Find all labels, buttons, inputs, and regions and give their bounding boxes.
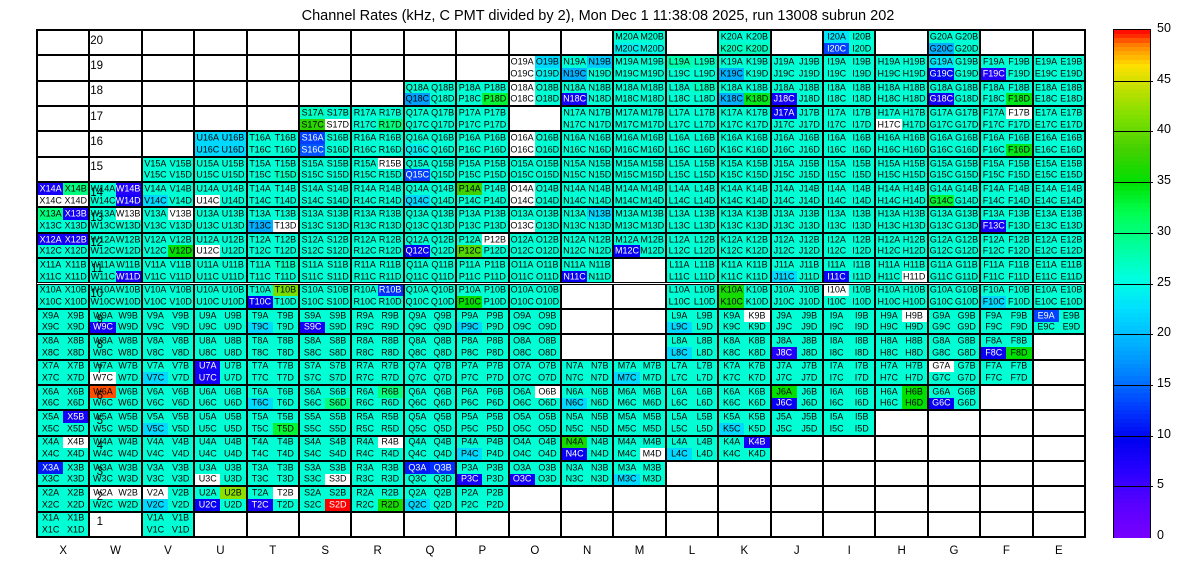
channel-Q7A[interactable]: Q7A: [405, 361, 430, 373]
channel-H8A[interactable]: H8A: [876, 335, 901, 347]
module-O17[interactable]: [509, 106, 561, 131]
channel-H12A[interactable]: H12A: [876, 234, 901, 246]
channel-G6A[interactable]: G6A: [929, 386, 954, 398]
channel-I5B[interactable]: I5B: [849, 411, 874, 423]
channel-Q12C[interactable]: Q12C: [405, 245, 430, 257]
channel-L15C[interactable]: L15C: [667, 169, 692, 181]
channel-K8B[interactable]: K8B: [744, 335, 769, 347]
module-G19[interactable]: G19AG19BG19CG19D: [928, 55, 980, 80]
channel-G6B[interactable]: G6B: [954, 386, 979, 398]
channel-F11A[interactable]: F11A: [981, 259, 1006, 271]
channel-T4C[interactable]: T4C: [248, 448, 273, 460]
module-G11[interactable]: G11AG11BG11CG11D: [928, 258, 980, 283]
channel-O8B[interactable]: O8B: [535, 335, 560, 347]
channel-H16C[interactable]: H16C: [876, 144, 901, 156]
channel-Q9C[interactable]: Q9C: [405, 322, 430, 334]
channel-O16A[interactable]: O16A: [510, 132, 535, 144]
module-P9[interactable]: P9AP9BP9CP9D: [456, 309, 508, 334]
channel-V5C[interactable]: V5C: [143, 423, 168, 435]
channel-N18A[interactable]: N18A: [562, 82, 587, 94]
channel-U11C[interactable]: U11C: [195, 271, 220, 283]
channel-I14A[interactable]: I14A: [824, 183, 849, 195]
channel-U11B[interactable]: U11B: [220, 259, 245, 271]
channel-K4A[interactable]: K4A: [719, 437, 744, 449]
channel-K9D[interactable]: K9D: [744, 322, 769, 334]
channel-I9D[interactable]: I9D: [849, 322, 874, 334]
channel-U14A[interactable]: U14A: [195, 183, 220, 195]
channel-J15D[interactable]: J15D: [797, 169, 822, 181]
module-H8[interactable]: H8AH8BH8CH8D: [875, 334, 927, 359]
channel-U7C[interactable]: U7C: [195, 372, 220, 384]
channel-K17A[interactable]: K17A: [719, 107, 744, 119]
channel-Q18D[interactable]: Q18D: [430, 93, 455, 105]
channel-P17A[interactable]: P17A: [457, 107, 482, 119]
module-I12[interactable]: I12AI12BI12CI12D: [823, 233, 875, 258]
channel-I5D[interactable]: I5D: [849, 423, 874, 435]
channel-P12C[interactable]: P12C: [457, 245, 482, 257]
channel-S12A[interactable]: S12A: [300, 234, 325, 246]
channel-L13A[interactable]: L13A: [667, 208, 692, 220]
channel-R6C[interactable]: R6C: [352, 398, 377, 410]
channel-F13D[interactable]: F13D: [1006, 220, 1031, 232]
channel-O10A[interactable]: O10A: [510, 285, 535, 297]
channel-S5C[interactable]: S5C: [300, 423, 325, 435]
channel-J11D[interactable]: J11D: [797, 271, 822, 283]
module-J1[interactable]: [771, 512, 823, 537]
channel-R14B[interactable]: R14B: [378, 183, 403, 195]
channel-F14B[interactable]: F14B: [1006, 183, 1031, 195]
channel-R3A[interactable]: R3A: [352, 462, 377, 474]
module-V12[interactable]: V12AV12BV12CV12D: [142, 233, 194, 258]
channel-M15A[interactable]: M15A: [614, 158, 639, 170]
module-N15[interactable]: N15AN15BN15CN15D: [561, 157, 613, 182]
channel-N6A[interactable]: N6A: [562, 386, 587, 398]
channel-M7B[interactable]: M7B: [640, 361, 665, 373]
channel-T13C[interactable]: T13C: [248, 220, 273, 232]
module-V7[interactable]: V7AV7BV7CV7D: [142, 360, 194, 385]
channel-J6B[interactable]: J6B: [797, 386, 822, 398]
channel-P18C[interactable]: P18C: [457, 93, 482, 105]
channel-L8B[interactable]: L8B: [692, 335, 717, 347]
channel-T2C[interactable]: T2C: [248, 499, 273, 511]
channel-G11A[interactable]: G11A: [929, 259, 954, 271]
channel-P3B[interactable]: P3B: [482, 462, 507, 474]
module-E12[interactable]: E12AE12BE12CE12D: [1033, 233, 1085, 258]
module-E14[interactable]: E14AE14BE14CE14D: [1033, 182, 1085, 207]
channel-O19B[interactable]: O19B: [535, 56, 560, 68]
channel-G10C[interactable]: G10C: [929, 296, 954, 308]
channel-V6C[interactable]: V6C: [143, 398, 168, 410]
channel-P7B[interactable]: P7B: [482, 361, 507, 373]
channel-K8C[interactable]: K8C: [719, 347, 744, 359]
channel-T4D[interactable]: T4D: [273, 448, 298, 460]
channel-R13B[interactable]: R13B: [378, 208, 403, 220]
channel-N16C[interactable]: N16C: [562, 144, 587, 156]
channel-T5B[interactable]: T5B: [273, 411, 298, 423]
channel-Q5A[interactable]: Q5A: [405, 411, 430, 423]
module-I17[interactable]: I17AI17BI17CI17D: [823, 106, 875, 131]
channel-P6C[interactable]: P6C: [457, 398, 482, 410]
channel-J7A[interactable]: J7A: [772, 361, 797, 373]
channel-P11A[interactable]: P11A: [457, 259, 482, 271]
channel-O16B[interactable]: O16B: [535, 132, 560, 144]
module-I3[interactable]: [823, 461, 875, 486]
module-N10[interactable]: [561, 284, 613, 309]
channel-M16C[interactable]: M16C: [614, 144, 639, 156]
channel-I11A[interactable]: I11A: [824, 259, 849, 271]
channel-X14A[interactable]: X14A: [38, 183, 63, 195]
module-Q14[interactable]: Q14AQ14BQ14CQ14D: [404, 182, 456, 207]
channel-L5A[interactable]: L5A: [667, 411, 692, 423]
channel-F15D[interactable]: F15D: [1006, 169, 1031, 181]
module-Q6[interactable]: Q6AQ6BQ6CQ6D: [404, 385, 456, 410]
channel-F12C[interactable]: F12C: [981, 245, 1006, 257]
channel-U16D[interactable]: U16D: [220, 144, 245, 156]
channel-J16D[interactable]: J16D: [797, 144, 822, 156]
channel-K5D[interactable]: K5D: [744, 423, 769, 435]
module-L20[interactable]: [666, 30, 718, 55]
channel-P9A[interactable]: P9A: [457, 310, 482, 322]
channel-P16B[interactable]: P16B: [482, 132, 507, 144]
channel-O13D[interactable]: O13D: [535, 220, 560, 232]
channel-I20A[interactable]: I20A: [824, 31, 849, 43]
channel-H8C[interactable]: H8C: [876, 347, 901, 359]
module-K18[interactable]: K18AK18BK18CK18D: [718, 81, 770, 106]
module-L3[interactable]: [666, 461, 718, 486]
channel-V8D[interactable]: V8D: [168, 347, 193, 359]
channel-K19B[interactable]: K19B: [744, 56, 769, 68]
module-S16[interactable]: S16AS16BS16CS16D: [299, 131, 351, 156]
channel-F17A[interactable]: F17A: [981, 107, 1006, 119]
channel-Q10C[interactable]: Q10C: [405, 296, 430, 308]
channel-E9C[interactable]: E9C: [1034, 322, 1059, 334]
channel-Q4C[interactable]: Q4C: [405, 448, 430, 460]
channel-I16D[interactable]: I16D: [849, 144, 874, 156]
channel-U14B[interactable]: U14B: [220, 183, 245, 195]
channel-L11D[interactable]: L11D: [692, 271, 717, 283]
channel-Q17C[interactable]: Q17C: [405, 119, 430, 131]
module-U7[interactable]: U7AU7BU7CU7D: [194, 360, 246, 385]
channel-I15B[interactable]: I15B: [849, 158, 874, 170]
channel-U16A[interactable]: U16A: [195, 132, 220, 144]
module-G6[interactable]: G6AG6BG6CG6D: [928, 385, 980, 410]
channel-Q17A[interactable]: Q17A: [405, 107, 430, 119]
channel-S14A[interactable]: S14A: [300, 183, 325, 195]
channel-H12D[interactable]: H12D: [902, 245, 927, 257]
channel-H14A[interactable]: H14A: [876, 183, 901, 195]
channel-L7A[interactable]: L7A: [667, 361, 692, 373]
module-R13[interactable]: R13AR13BR13CR13D: [351, 207, 403, 232]
channel-H8D[interactable]: H8D: [902, 347, 927, 359]
channel-K9A[interactable]: K9A: [719, 310, 744, 322]
channel-L8A[interactable]: L8A: [667, 335, 692, 347]
module-G16[interactable]: G16AG16BG16CG16D: [928, 131, 980, 156]
channel-Q14D[interactable]: Q14D: [430, 195, 455, 207]
channel-H16B[interactable]: H16B: [902, 132, 927, 144]
channel-I5C[interactable]: I5C: [824, 423, 849, 435]
channel-P13A[interactable]: P13A: [457, 208, 482, 220]
channel-G7A[interactable]: G7A: [929, 361, 954, 373]
channel-K11D[interactable]: K11D: [744, 271, 769, 283]
module-J7[interactable]: J7AJ7BJ7CJ7D: [771, 360, 823, 385]
channel-P13B[interactable]: P13B: [482, 208, 507, 220]
channel-G16B[interactable]: G16B: [954, 132, 979, 144]
channel-W3D[interactable]: W3D: [116, 474, 141, 486]
channel-I8D[interactable]: I8D: [849, 347, 874, 359]
channel-R3C[interactable]: R3C: [352, 474, 377, 486]
channel-O11B[interactable]: O11B: [535, 259, 560, 271]
channel-W6B[interactable]: W6B: [116, 386, 141, 398]
module-F20[interactable]: [980, 30, 1032, 55]
channel-V8A[interactable]: V8A: [143, 335, 168, 347]
channel-R17C[interactable]: R17C: [352, 119, 377, 131]
module-E3[interactable]: [1033, 461, 1085, 486]
module-I5[interactable]: I5AI5BI5CI5D: [823, 410, 875, 435]
module-M9[interactable]: [613, 309, 665, 334]
channel-L12A[interactable]: L12A: [667, 234, 692, 246]
channel-R17B[interactable]: R17B: [378, 107, 403, 119]
module-F10[interactable]: F10AF10BF10CF10D: [980, 284, 1032, 309]
channel-V7D[interactable]: V7D: [168, 372, 193, 384]
channel-U14D[interactable]: U14D: [220, 195, 245, 207]
channel-P2A[interactable]: P2A: [457, 487, 482, 499]
module-R11[interactable]: R11AR11BR11CR11D: [351, 258, 403, 283]
channel-Q2B[interactable]: Q2B: [430, 487, 455, 499]
channel-S4D[interactable]: S4D: [325, 448, 350, 460]
channel-Q3D[interactable]: Q3D: [430, 474, 455, 486]
channel-G14B[interactable]: G14B: [954, 183, 979, 195]
channel-E13C[interactable]: E13C: [1034, 220, 1059, 232]
module-N19[interactable]: N19AN19BN19CN19D: [561, 55, 613, 80]
channel-I17C[interactable]: I17C: [824, 119, 849, 131]
channel-F18B[interactable]: F18B: [1006, 82, 1031, 94]
channel-J19C[interactable]: J19C: [772, 68, 797, 80]
channel-F19A[interactable]: F19A: [981, 56, 1006, 68]
channel-V10A[interactable]: V10A: [143, 285, 168, 297]
channel-R8A[interactable]: R8A: [352, 335, 377, 347]
channel-P14D[interactable]: P14D: [482, 195, 507, 207]
channel-R6B[interactable]: R6B: [378, 386, 403, 398]
channel-M13A[interactable]: M13A: [614, 208, 639, 220]
channel-F14D[interactable]: F14D: [1006, 195, 1031, 207]
channel-Q14A[interactable]: Q14A: [405, 183, 430, 195]
channel-F12B[interactable]: F12B: [1006, 234, 1031, 246]
channel-I6B[interactable]: I6B: [849, 386, 874, 398]
module-R7[interactable]: R7AR7BR7CR7D: [351, 360, 403, 385]
channel-I13C[interactable]: I13C: [824, 220, 849, 232]
channel-W12B[interactable]: W12B: [116, 234, 141, 246]
channel-F16C[interactable]: F16C: [981, 144, 1006, 156]
channel-F18D[interactable]: F18D: [1006, 93, 1031, 105]
module-R8[interactable]: R8AR8BR8CR8D: [351, 334, 403, 359]
channel-N13D[interactable]: N13D: [587, 220, 612, 232]
module-L12[interactable]: L12AL12BL12CL12D: [666, 233, 718, 258]
channel-Q15B[interactable]: Q15B: [430, 158, 455, 170]
channel-X12C[interactable]: X12C: [38, 245, 63, 257]
channel-O18A[interactable]: O18A: [510, 82, 535, 94]
channel-W13D[interactable]: W13D: [116, 220, 141, 232]
channel-X7A[interactable]: X7A: [38, 361, 63, 373]
channel-O14D[interactable]: O14D: [535, 195, 560, 207]
channel-I10C[interactable]: I10C: [824, 296, 849, 308]
channel-R15B[interactable]: R15B: [378, 158, 403, 170]
channel-U15D[interactable]: U15D: [220, 169, 245, 181]
channel-H8B[interactable]: H8B: [902, 335, 927, 347]
module-U18[interactable]: [194, 81, 246, 106]
module-K8[interactable]: K8AK8BK8CK8D: [718, 334, 770, 359]
channel-K6A[interactable]: K6A: [719, 386, 744, 398]
module-V4[interactable]: V4AV4BV4CV4D: [142, 436, 194, 461]
channel-K14A[interactable]: K14A: [719, 183, 744, 195]
channel-J8C[interactable]: J8C: [772, 347, 797, 359]
channel-F10C[interactable]: F10C: [981, 296, 1006, 308]
module-I14[interactable]: I14AI14BI14CI14D: [823, 182, 875, 207]
channel-Q14B[interactable]: Q14B: [430, 183, 455, 195]
channel-S3D[interactable]: S3D: [325, 474, 350, 486]
channel-P5B[interactable]: P5B: [482, 411, 507, 423]
channel-R7A[interactable]: R7A: [352, 361, 377, 373]
channel-T3D[interactable]: T3D: [273, 474, 298, 486]
channel-U13A[interactable]: U13A: [195, 208, 220, 220]
channel-K18A[interactable]: K18A: [719, 82, 744, 94]
module-S19[interactable]: [299, 55, 351, 80]
channel-S14D[interactable]: S14D: [325, 195, 350, 207]
channel-N11C[interactable]: N11C: [562, 271, 587, 283]
channel-V13D[interactable]: V13D: [168, 220, 193, 232]
channel-X3A[interactable]: X3A: [38, 462, 63, 474]
module-S13[interactable]: S13AS13BS13CS13D: [299, 207, 351, 232]
module-F2[interactable]: [980, 486, 1032, 511]
channel-K5B[interactable]: K5B: [744, 411, 769, 423]
channel-J8A[interactable]: J8A: [772, 335, 797, 347]
channel-M3C[interactable]: M3C: [614, 474, 639, 486]
channel-O18D[interactable]: O18D: [535, 93, 560, 105]
channel-U13C[interactable]: U13C: [195, 220, 220, 232]
channel-H11A[interactable]: H11A: [876, 259, 901, 271]
channel-L11B[interactable]: L11B: [692, 259, 717, 271]
channel-K4C[interactable]: K4C: [719, 448, 744, 460]
channel-L10A[interactable]: L10A: [667, 285, 692, 297]
channel-M19C[interactable]: M19C: [614, 68, 639, 80]
module-U8[interactable]: U8AU8BU8CU8D: [194, 334, 246, 359]
channel-M20D[interactable]: M20D: [640, 43, 665, 55]
channel-E16A[interactable]: E16A: [1034, 132, 1059, 144]
module-Q5[interactable]: Q5AQ5BQ5CQ5D: [404, 410, 456, 435]
channel-K6C[interactable]: K6C: [719, 398, 744, 410]
channel-F19C[interactable]: F19C: [981, 68, 1006, 80]
channel-W4B[interactable]: W4B: [116, 437, 141, 449]
channel-P11C[interactable]: P11C: [457, 271, 482, 283]
module-M1[interactable]: [613, 512, 665, 537]
channel-V6A[interactable]: V6A: [143, 386, 168, 398]
channel-P8A[interactable]: P8A: [457, 335, 482, 347]
channel-T10C[interactable]: T10C: [248, 296, 273, 308]
channel-F9A[interactable]: F9A: [981, 310, 1006, 322]
module-R4[interactable]: R4AR4BR4CR4D: [351, 436, 403, 461]
module-E8[interactable]: [1033, 334, 1085, 359]
channel-J7D[interactable]: J7D: [797, 372, 822, 384]
channel-Q4D[interactable]: Q4D: [430, 448, 455, 460]
channel-K12B[interactable]: K12B: [744, 234, 769, 246]
channel-R9A[interactable]: R9A: [352, 310, 377, 322]
module-V17[interactable]: [142, 106, 194, 131]
channel-Q18B[interactable]: Q18B: [430, 82, 455, 94]
module-F3[interactable]: [980, 461, 1032, 486]
channel-M3B[interactable]: M3B: [640, 462, 665, 474]
module-L7[interactable]: L7AL7BL7CL7D: [666, 360, 718, 385]
module-V16[interactable]: [142, 131, 194, 156]
channel-S7C[interactable]: S7C: [300, 372, 325, 384]
channel-L14A[interactable]: L14A: [667, 183, 692, 195]
module-V13[interactable]: V13AV13BV13CV13D: [142, 207, 194, 232]
channel-N16A[interactable]: N16A: [562, 132, 587, 144]
channel-M4A[interactable]: M4A: [614, 437, 639, 449]
channel-X3C[interactable]: X3C: [38, 474, 63, 486]
module-P17[interactable]: P17AP17BP17CP17D: [456, 106, 508, 131]
channel-V4D[interactable]: V4D: [168, 448, 193, 460]
module-T19[interactable]: [247, 55, 299, 80]
channel-R9B[interactable]: R9B: [378, 310, 403, 322]
module-L9[interactable]: L9AL9BL9CL9D: [666, 309, 718, 334]
channel-U11A[interactable]: U11A: [195, 259, 220, 271]
channel-P4B[interactable]: P4B: [482, 437, 507, 449]
channel-X2C[interactable]: X2C: [38, 499, 63, 511]
channel-R13A[interactable]: R13A: [352, 208, 377, 220]
channel-V9A[interactable]: V9A: [143, 310, 168, 322]
channel-T12C[interactable]: T12C: [248, 245, 273, 257]
channel-Q7C[interactable]: Q7C: [405, 372, 430, 384]
channel-E10A[interactable]: E10A: [1034, 285, 1059, 297]
channel-M18C[interactable]: M18C: [614, 93, 639, 105]
channel-R15A[interactable]: R15A: [352, 158, 377, 170]
channel-H16A[interactable]: H16A: [876, 132, 901, 144]
channel-P9B[interactable]: P9B: [482, 310, 507, 322]
channel-Q3C[interactable]: Q3C: [405, 474, 430, 486]
channel-X6C[interactable]: X6C: [38, 398, 63, 410]
channel-U12A[interactable]: U12A: [195, 234, 220, 246]
module-J3[interactable]: [771, 461, 823, 486]
channel-N17D[interactable]: N17D: [587, 119, 612, 131]
module-T20[interactable]: [247, 30, 299, 55]
channel-L17A[interactable]: L17A: [667, 107, 692, 119]
channel-S13B[interactable]: S13B: [325, 208, 350, 220]
channel-T11B[interactable]: T11B: [273, 259, 298, 271]
channel-U7A[interactable]: U7A: [195, 361, 220, 373]
channel-M16B[interactable]: M16B: [640, 132, 665, 144]
channel-P8C[interactable]: P8C: [457, 347, 482, 359]
channel-H6A[interactable]: H6A: [876, 386, 901, 398]
channel-O7D[interactable]: O7D: [535, 372, 560, 384]
channel-E11D[interactable]: E11D: [1059, 271, 1084, 283]
module-R1[interactable]: [351, 512, 403, 537]
channel-N5C[interactable]: N5C: [562, 423, 587, 435]
channel-J18C[interactable]: J18C: [772, 93, 797, 105]
channel-N7B[interactable]: N7B: [587, 361, 612, 373]
channel-K13A[interactable]: K13A: [719, 208, 744, 220]
channel-P3C[interactable]: P3C: [457, 474, 482, 486]
channel-I6A[interactable]: I6A: [824, 386, 849, 398]
channel-K7C[interactable]: K7C: [719, 372, 744, 384]
channel-Q4B[interactable]: Q4B: [430, 437, 455, 449]
module-Q20[interactable]: [404, 30, 456, 55]
channel-Q2C[interactable]: Q2C: [405, 499, 430, 511]
channel-O7A[interactable]: O7A: [510, 361, 535, 373]
channel-R10A[interactable]: R10A: [352, 285, 377, 297]
channel-R16D[interactable]: R16D: [378, 144, 403, 156]
channel-K17C[interactable]: K17C: [719, 119, 744, 131]
module-U14[interactable]: U14AU14BU14CU14D: [194, 182, 246, 207]
channel-Q16A[interactable]: Q16A: [405, 132, 430, 144]
